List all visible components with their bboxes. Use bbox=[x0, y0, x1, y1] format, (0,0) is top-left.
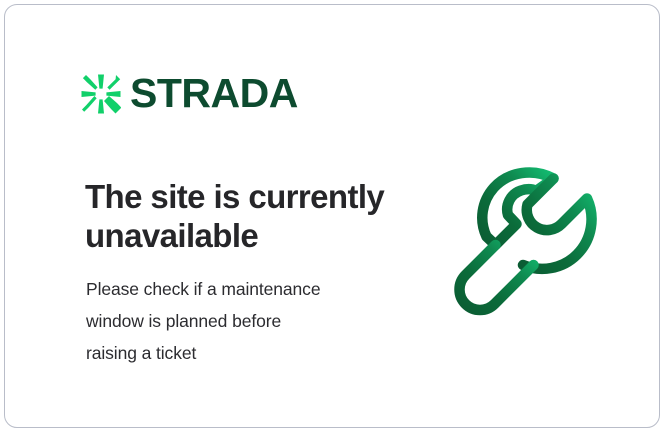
description-line: Please check if a maintenance bbox=[86, 273, 416, 305]
status-card: STRADA The site is currently unavailable… bbox=[4, 4, 660, 428]
brand-logo: STRADA bbox=[81, 73, 298, 114]
error-page: STRADA The site is currently unavailable… bbox=[0, 0, 666, 436]
description-line: raising a ticket bbox=[86, 337, 416, 369]
status-description: Please check if a maintenance window is … bbox=[86, 273, 416, 369]
wrench-icon bbox=[453, 157, 618, 319]
asterisk-star-icon bbox=[81, 74, 121, 114]
page-title: The site is currently unavailable bbox=[85, 178, 425, 256]
brand-wordmark: STRADA bbox=[130, 73, 298, 114]
description-line: window is planned before bbox=[86, 305, 416, 337]
